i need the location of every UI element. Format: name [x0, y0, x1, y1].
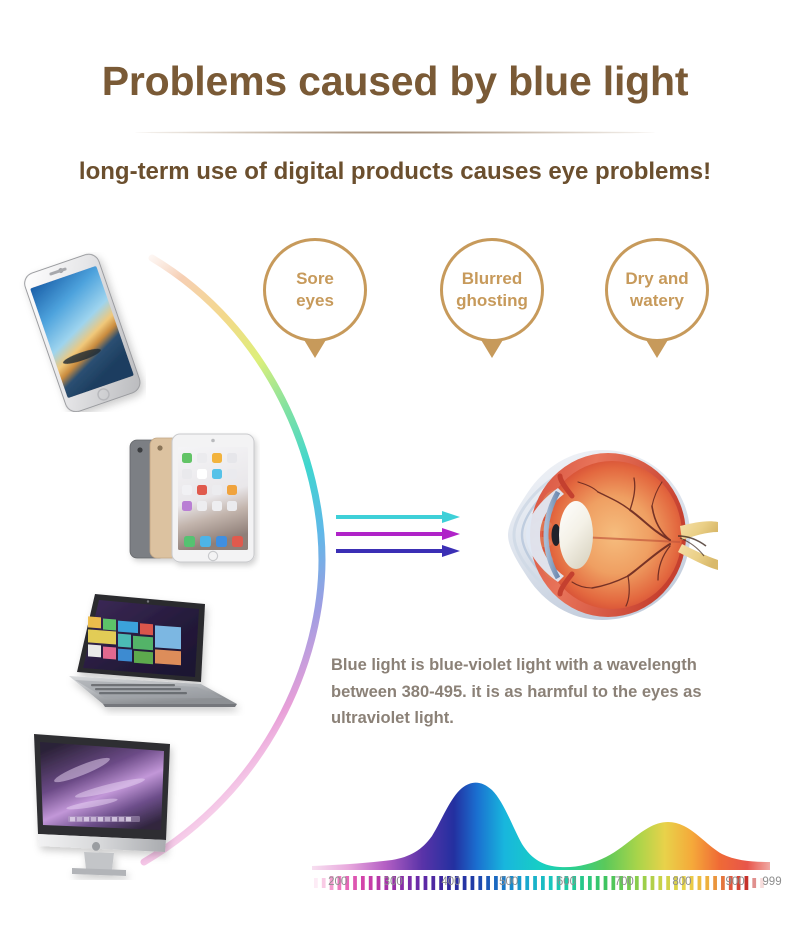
blue-light-rays: [332, 508, 468, 562]
tick-label: 600: [557, 876, 576, 888]
pin-label: Sore eyes: [296, 268, 334, 312]
eye-cross-section-icon: [484, 436, 720, 634]
spectrum-axis-labels: 200 300 400 500 600 700 800 900 999: [310, 876, 772, 896]
page-subtitle: long-term use of digital products causes…: [0, 158, 790, 186]
desktop-monitor-icon: [22, 722, 194, 880]
symptom-pin-sore-eyes[interactable]: Sore eyes: [263, 238, 379, 373]
tick-label: 300: [384, 876, 403, 888]
pin-label: Blurred ghosting: [456, 268, 528, 312]
tick-label: 700: [615, 876, 634, 888]
tick-label: 400: [441, 876, 460, 888]
page-title: Problems caused by blue light: [0, 58, 790, 105]
tick-label: 900: [725, 876, 744, 888]
smartphone-icon: [18, 252, 146, 412]
tick-label: 800: [672, 876, 691, 888]
title-divider: [135, 131, 655, 134]
symptom-pin-dry-and-watery[interactable]: Dry and watery: [605, 238, 721, 373]
symptom-pin-blurred-ghosting[interactable]: Blurred ghosting: [440, 238, 556, 373]
blue-light-description: Blue light is blue-violet light with a w…: [331, 652, 721, 732]
pin-circle: Dry and watery: [605, 238, 709, 342]
tick-label: 500: [499, 876, 518, 888]
tablet-icon: [124, 424, 260, 572]
tick-label: 999: [762, 876, 781, 888]
infographic-poster: Problems caused by blue light long-term …: [0, 0, 790, 933]
tick-label: 200: [328, 876, 347, 888]
pin-circle: Sore eyes: [263, 238, 367, 342]
spectrum-curve: [312, 783, 770, 870]
laptop-icon: [55, 588, 245, 716]
pin-circle: Blurred ghosting: [440, 238, 544, 342]
pin-label: Dry and watery: [625, 268, 688, 312]
